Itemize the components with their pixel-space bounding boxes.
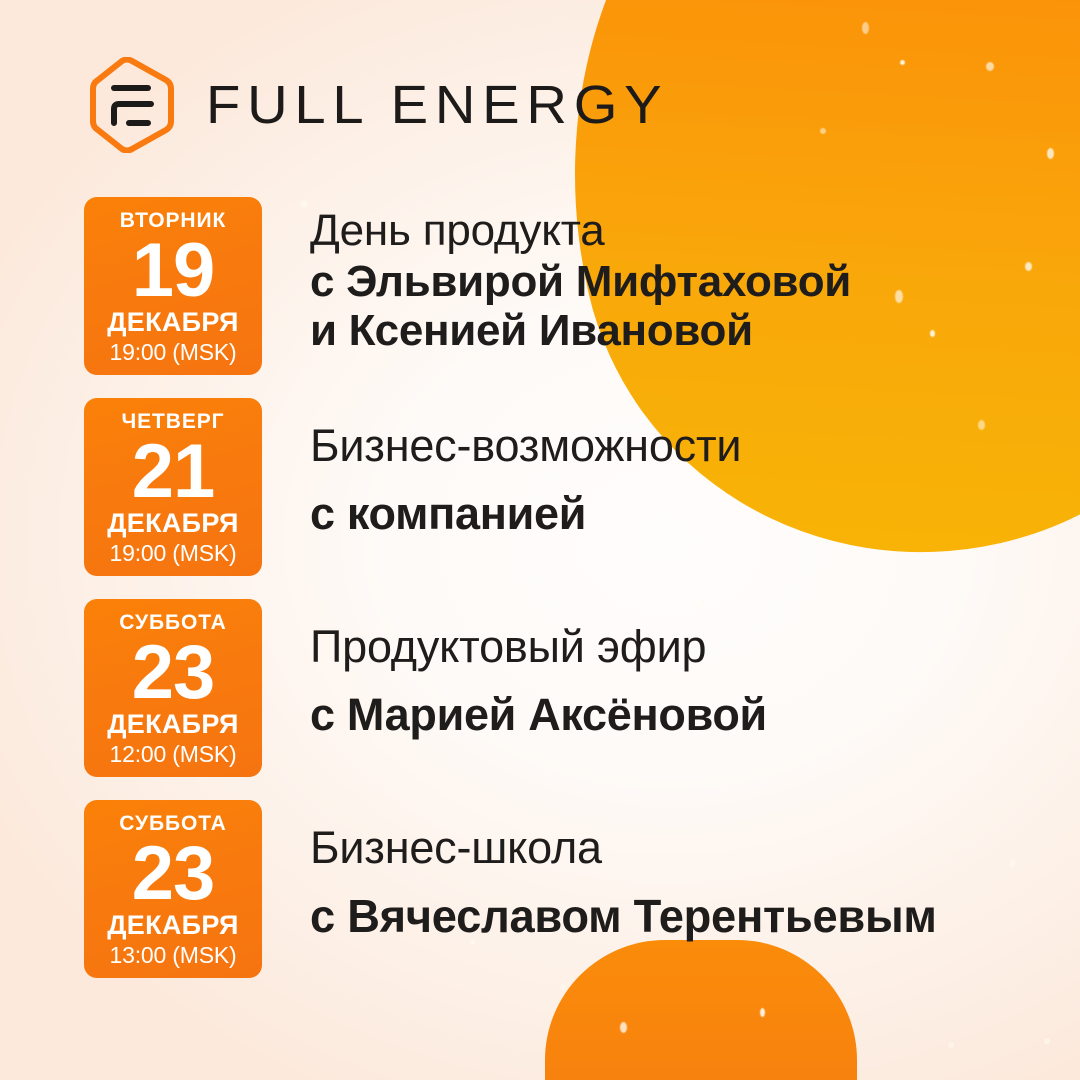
event-row[interactable]: СУББОТА23ДЕКАБРЯ13:00 (MSK)Бизнес-школас… (84, 800, 1044, 978)
event-month: ДЕКАБРЯ (107, 510, 238, 537)
event-text-block: Бизнес-возможностис компанией (262, 398, 1044, 540)
event-month: ДЕКАБРЯ (107, 711, 238, 738)
event-day-number: 21 (132, 435, 215, 509)
poster-canvas: FULL ENERGY ВТОРНИК19ДЕКАБРЯ19:00 (MSK)Д… (0, 0, 1080, 1080)
event-time: 19:00 (MSK) (110, 542, 237, 565)
event-text-block: День продуктас Эльвирой Мифтаховойи Ксен… (262, 197, 1044, 356)
event-text-block: Продуктовый эфирс Марией Аксёновой (262, 599, 1044, 741)
event-day-number: 23 (132, 636, 215, 710)
sparkle-dot (948, 1042, 954, 1048)
event-title: Бизнес-школа (310, 822, 1044, 874)
brand-name: FULL ENERGY (206, 78, 668, 132)
event-subtitle-line: и Ксенией Ивановой (310, 306, 1044, 355)
event-text-block: Бизнес-школас Вячеславом Терентьевым (262, 800, 1044, 944)
event-month: ДЕКАБРЯ (107, 912, 238, 939)
event-date-card[interactable]: ВТОРНИК19ДЕКАБРЯ19:00 (MSK) (84, 197, 262, 375)
event-subtitle: с Вячеславом Терентьевым (310, 890, 1033, 943)
event-subtitle-line: с Вячеславом Терентьевым (310, 890, 1033, 943)
event-date-card[interactable]: СУББОТА23ДЕКАБРЯ12:00 (MSK) (84, 599, 262, 777)
brand-logo: FULL ENERGY (86, 57, 651, 153)
event-subtitle: с Марией Аксёновой (310, 689, 1044, 741)
event-subtitle: с компанией (310, 488, 1044, 540)
event-title: Продуктовый эфир (310, 621, 1044, 673)
event-subtitle-line: с Марией Аксёновой (310, 689, 1044, 741)
sparkle-dot (1044, 1038, 1050, 1044)
hexagon-energy-logo-icon (86, 57, 178, 153)
event-subtitle-line: с компанией (310, 488, 1044, 540)
event-row[interactable]: СУББОТА23ДЕКАБРЯ12:00 (MSK)Продуктовый э… (84, 599, 1044, 777)
event-date-card[interactable]: ЧЕТВЕРГ21ДЕКАБРЯ19:00 (MSK) (84, 398, 262, 576)
event-row[interactable]: ВТОРНИК19ДЕКАБРЯ19:00 (MSK)День продукта… (84, 197, 1044, 375)
event-title: День продукта (310, 205, 1044, 256)
event-month: ДЕКАБРЯ (107, 309, 238, 336)
event-title: Бизнес-возможности (310, 420, 1044, 472)
event-date-card[interactable]: СУББОТА23ДЕКАБРЯ13:00 (MSK) (84, 800, 262, 978)
event-day-number: 19 (132, 234, 215, 308)
event-time: 13:00 (MSK) (110, 944, 237, 967)
event-day-number: 23 (132, 837, 215, 911)
event-time: 12:00 (MSK) (110, 743, 237, 766)
schedule-list: ВТОРНИК19ДЕКАБРЯ19:00 (MSK)День продукта… (84, 197, 1044, 1001)
event-row[interactable]: ЧЕТВЕРГ21ДЕКАБРЯ19:00 (MSK)Бизнес-возмож… (84, 398, 1044, 576)
event-subtitle-line: с Эльвирой Мифтаховой (310, 257, 1044, 306)
event-time: 19:00 (MSK) (110, 341, 237, 364)
event-subtitle: с Эльвирой Мифтаховойи Ксенией Ивановой (310, 257, 1044, 356)
